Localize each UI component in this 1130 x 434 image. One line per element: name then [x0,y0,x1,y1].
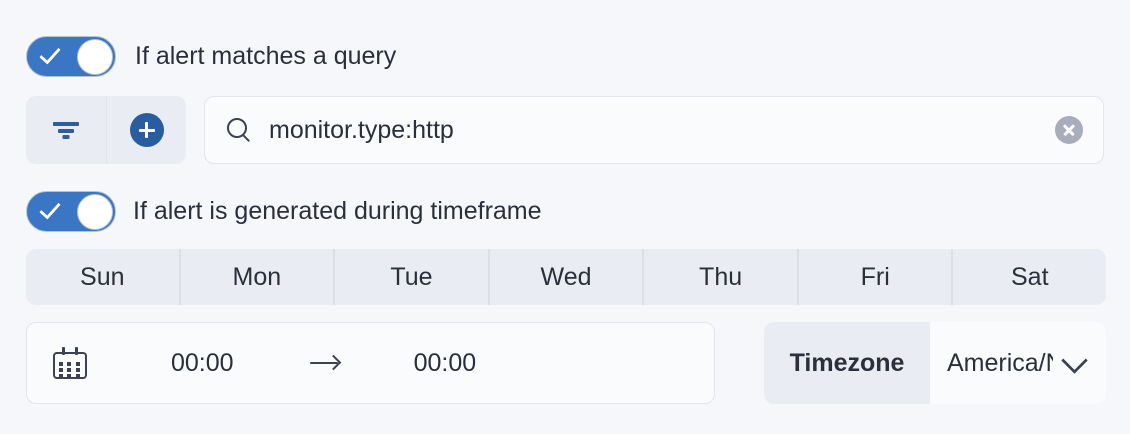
timeframe-condition-label: If alert is generated during timeframe [133,197,542,226]
day-button-wed[interactable]: Wed [488,249,643,305]
day-button-fri[interactable]: Fri [797,249,952,305]
timeframe-condition-row: If alert is generated during timeframe [26,191,542,232]
day-button-sun[interactable]: Sun [26,249,179,305]
query-condition-row: If alert matches a query [26,36,396,77]
check-icon [39,197,61,219]
filter-icon [53,120,79,140]
timezone-value: America/New_York [947,349,1053,378]
add-query-button[interactable] [106,96,186,164]
query-input-row: monitor.type:http [26,96,1104,164]
timezone-label: Timezone [764,322,930,404]
clear-icon[interactable] [1055,116,1083,144]
check-icon [39,42,61,64]
day-button-thu[interactable]: Thu [642,249,797,305]
toggle-knob [77,39,113,75]
search-input[interactable]: monitor.type:http [269,116,454,145]
toggle-knob [77,194,113,230]
plus-icon [130,113,164,147]
day-button-tue[interactable]: Tue [333,249,488,305]
query-action-buttons [26,96,186,164]
query-condition-label: If alert matches a query [135,42,396,71]
day-button-sat[interactable]: Sat [951,249,1106,305]
timeframe-condition-toggle[interactable] [26,191,116,232]
day-selector: Sun Mon Tue Wed Thu Fri Sat [26,249,1106,305]
chevron-down-icon [1061,347,1088,374]
day-button-mon[interactable]: Mon [179,249,334,305]
timezone-control: Timezone America/New_York [764,322,1106,404]
time-start-value[interactable]: 00:00 [171,349,234,378]
calendar-icon [53,347,87,379]
search-icon [227,118,251,142]
arrow-right-icon [310,353,340,373]
filter-button[interactable] [26,96,106,164]
time-range-input[interactable]: 00:00 00:00 [26,322,715,404]
query-condition-toggle[interactable] [26,36,116,77]
time-end-value[interactable]: 00:00 [414,349,477,378]
timezone-select[interactable]: America/New_York [930,322,1106,404]
query-search-box[interactable]: monitor.type:http [204,96,1104,164]
